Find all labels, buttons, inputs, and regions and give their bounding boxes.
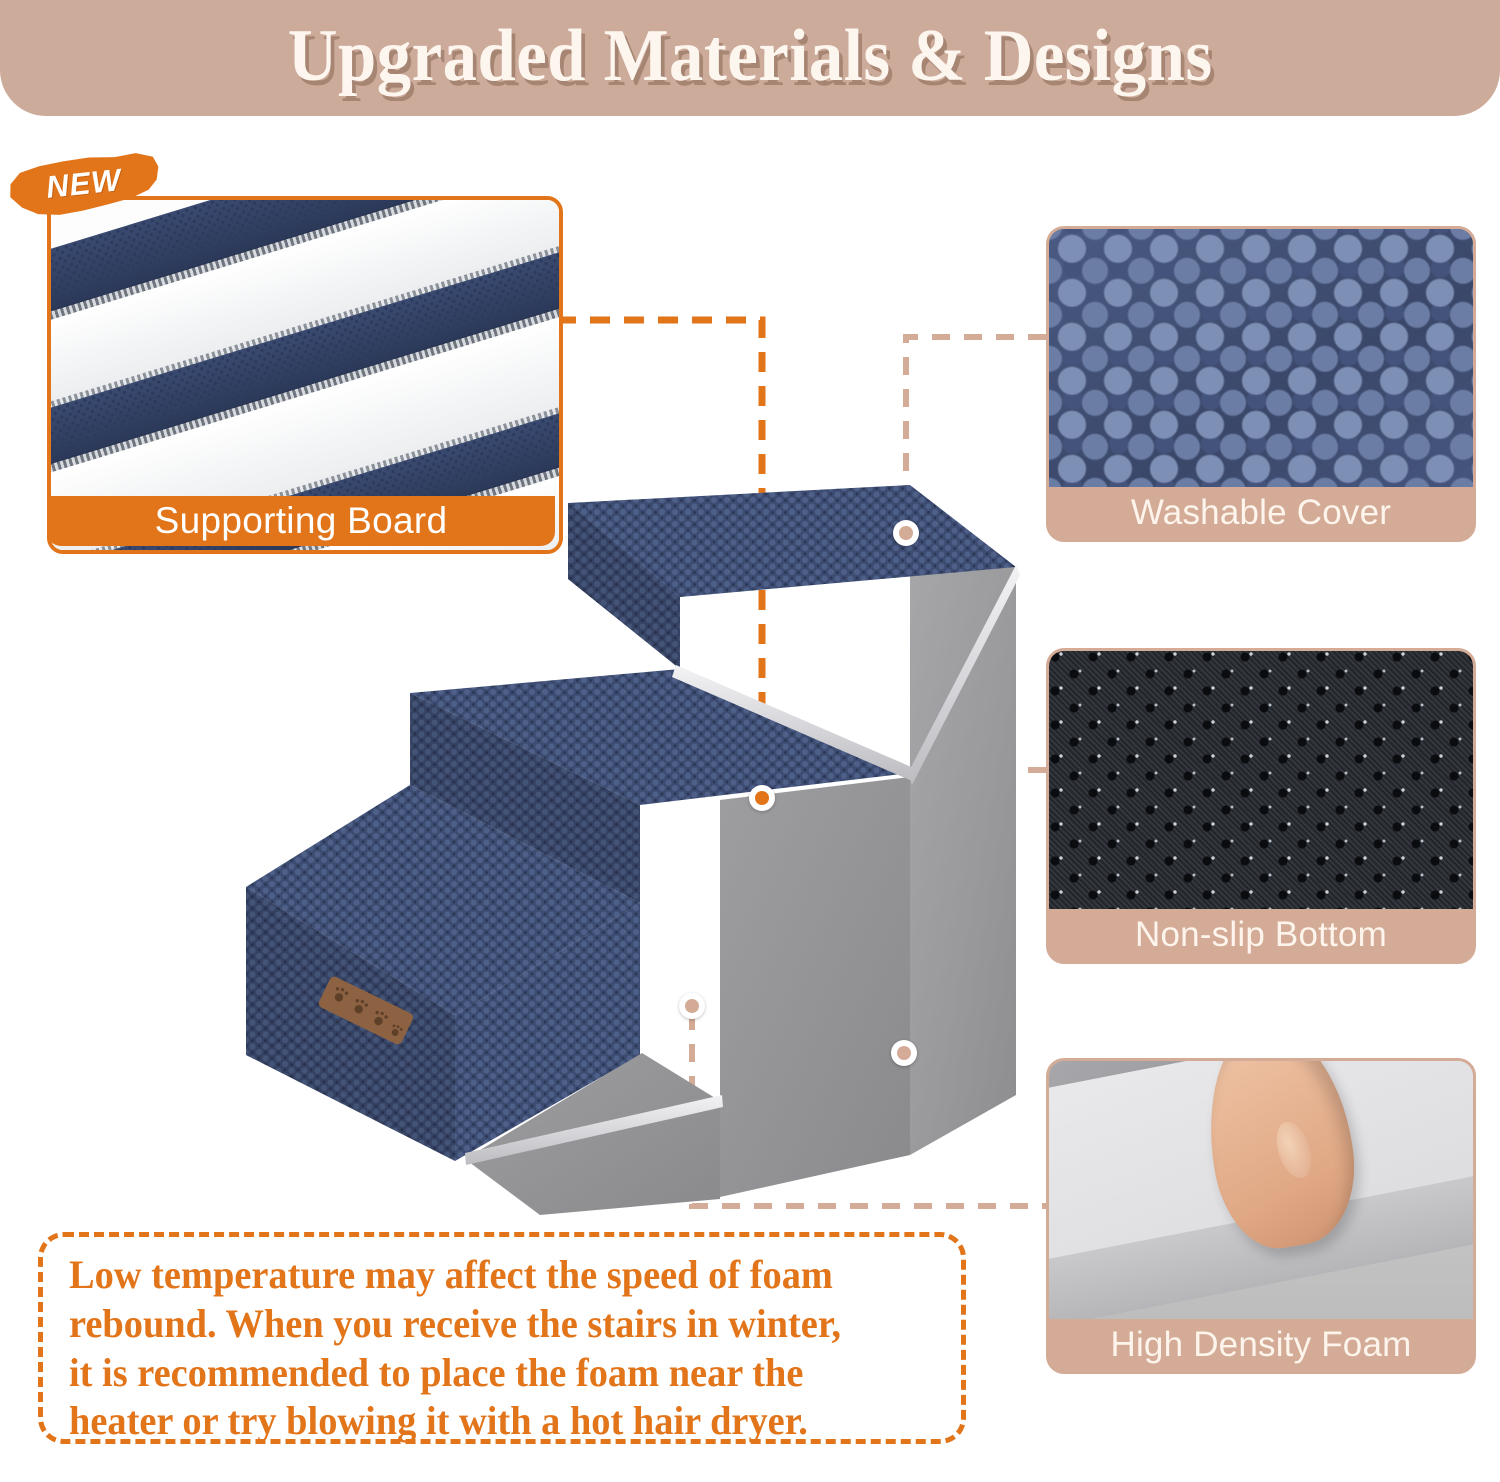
washable-cover-photo <box>1049 229 1473 487</box>
supporting-board-label: Supporting Board <box>47 496 555 546</box>
high-density-foam-photo <box>1049 1061 1473 1319</box>
washable-cover-card[interactable]: Washable Cover <box>1046 226 1476 542</box>
callout-dot-non-slip-bottom[interactable] <box>891 1040 917 1066</box>
warning-line-3: it is recommended to place the foam near… <box>69 1349 900 1398</box>
warning-line-2: rebound. When you receive the stairs in … <box>69 1300 900 1349</box>
warning-line-4: heater or try blowing it with a hot hair… <box>69 1397 900 1446</box>
high-density-foam-label-text: High Density Foam <box>1110 1325 1411 1365</box>
high-density-foam-card[interactable]: High Density Foam <box>1046 1058 1476 1374</box>
knuckle-highlight <box>1270 1117 1317 1181</box>
header-banner: Upgraded Materials & Designs <box>0 0 1500 116</box>
washable-cover-label: Washable Cover <box>1049 487 1473 539</box>
non-slip-bottom-label-text: Non-slip Bottom <box>1135 915 1387 955</box>
high-density-foam-label: High Density Foam <box>1049 1319 1473 1371</box>
callout-dot-supporting-board[interactable] <box>749 785 775 811</box>
warning-line-1: Low temperature may affect the speed of … <box>69 1251 900 1300</box>
supporting-board-label-text: Supporting Board <box>155 500 448 542</box>
callout-dot-high-density-foam[interactable] <box>679 993 705 1019</box>
non-slip-bottom-photo <box>1049 651 1473 909</box>
warning-note-box: Low temperature may affect the speed of … <box>38 1232 966 1444</box>
product-illustration-pet-stairs <box>210 455 1050 1215</box>
washable-cover-label-text: Washable Cover <box>1131 493 1391 533</box>
callout-dot-washable-cover[interactable] <box>893 520 919 546</box>
non-slip-bottom-card[interactable]: Non-slip Bottom <box>1046 648 1476 964</box>
page-title: Upgraded Materials & Designs <box>288 19 1213 93</box>
non-slip-bottom-label: Non-slip Bottom <box>1049 909 1473 961</box>
